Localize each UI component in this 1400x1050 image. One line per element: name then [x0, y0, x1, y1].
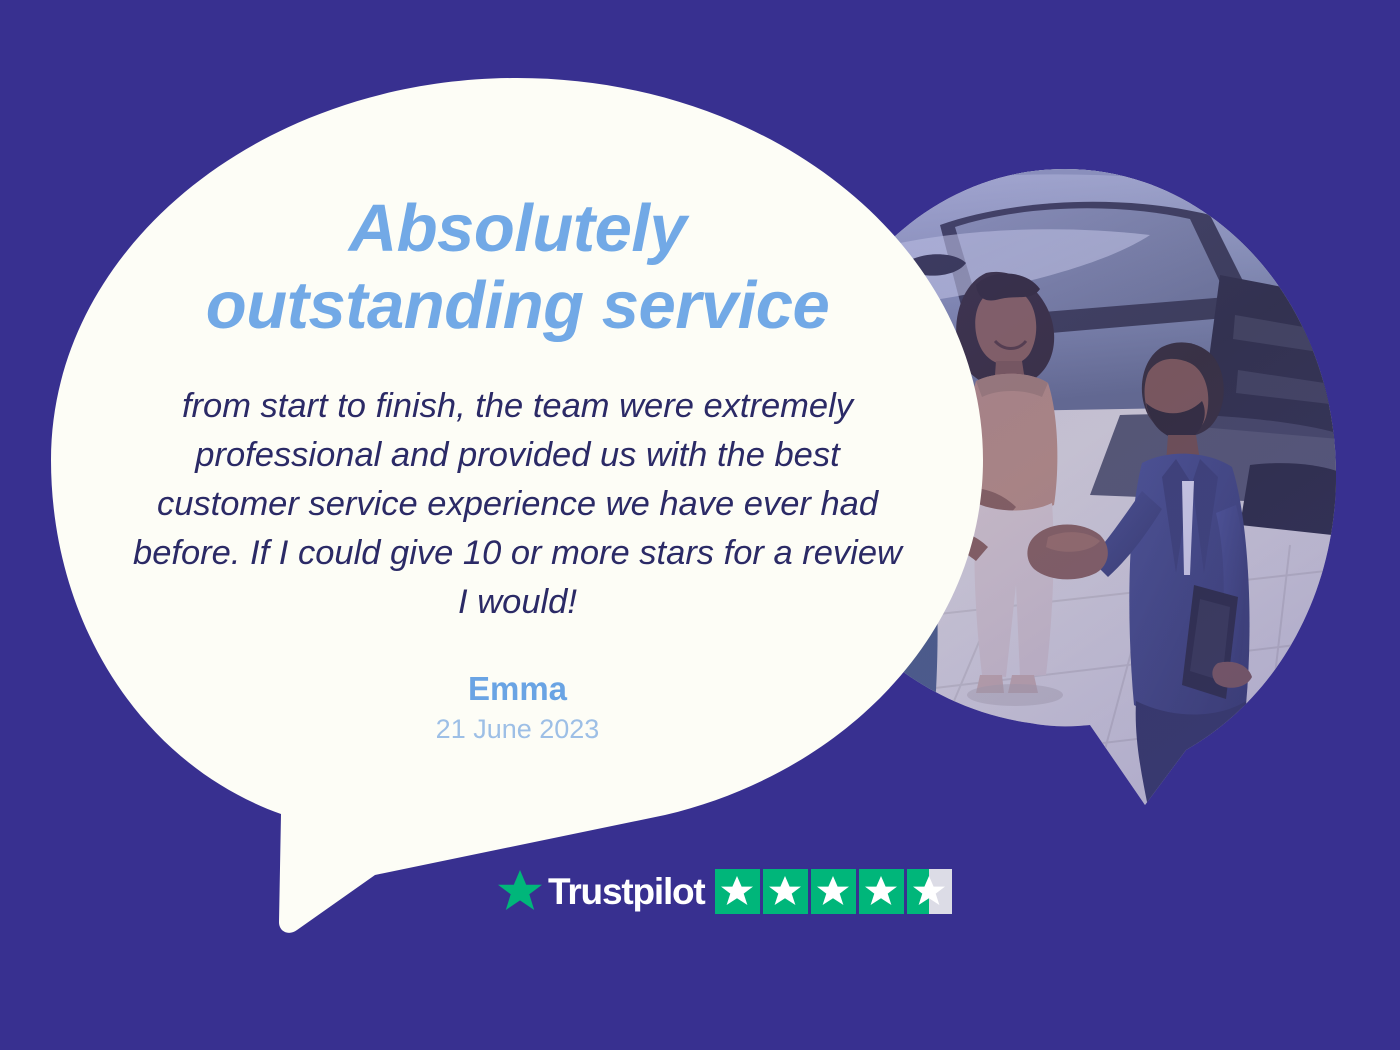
review-date: 21 June 2023	[115, 709, 920, 750]
star-4	[859, 869, 904, 914]
trustpilot-logo: Trustpilot	[497, 868, 705, 914]
review-body: from start to finish, the team were extr…	[115, 382, 920, 627]
trustpilot-rating[interactable]: Trustpilot	[497, 868, 952, 914]
review-headline: Absolutely outstanding service	[115, 190, 920, 344]
quote-speech-bubble: Absolutely outstanding service from star…	[45, 70, 990, 940]
star-3	[811, 869, 856, 914]
trustpilot-stars	[715, 869, 952, 914]
trustpilot-star-icon	[497, 868, 543, 914]
quote-content: Absolutely outstanding service from star…	[115, 190, 920, 750]
review-testimonial-graphic: Absolutely outstanding service from star…	[0, 0, 1400, 1050]
star-1	[715, 869, 760, 914]
star-5-half	[907, 869, 952, 914]
trustpilot-wordmark: Trustpilot	[548, 873, 705, 910]
review-author: Emma	[115, 671, 920, 707]
review-attribution: Emma 21 June 2023	[115, 671, 920, 750]
star-2	[763, 869, 808, 914]
